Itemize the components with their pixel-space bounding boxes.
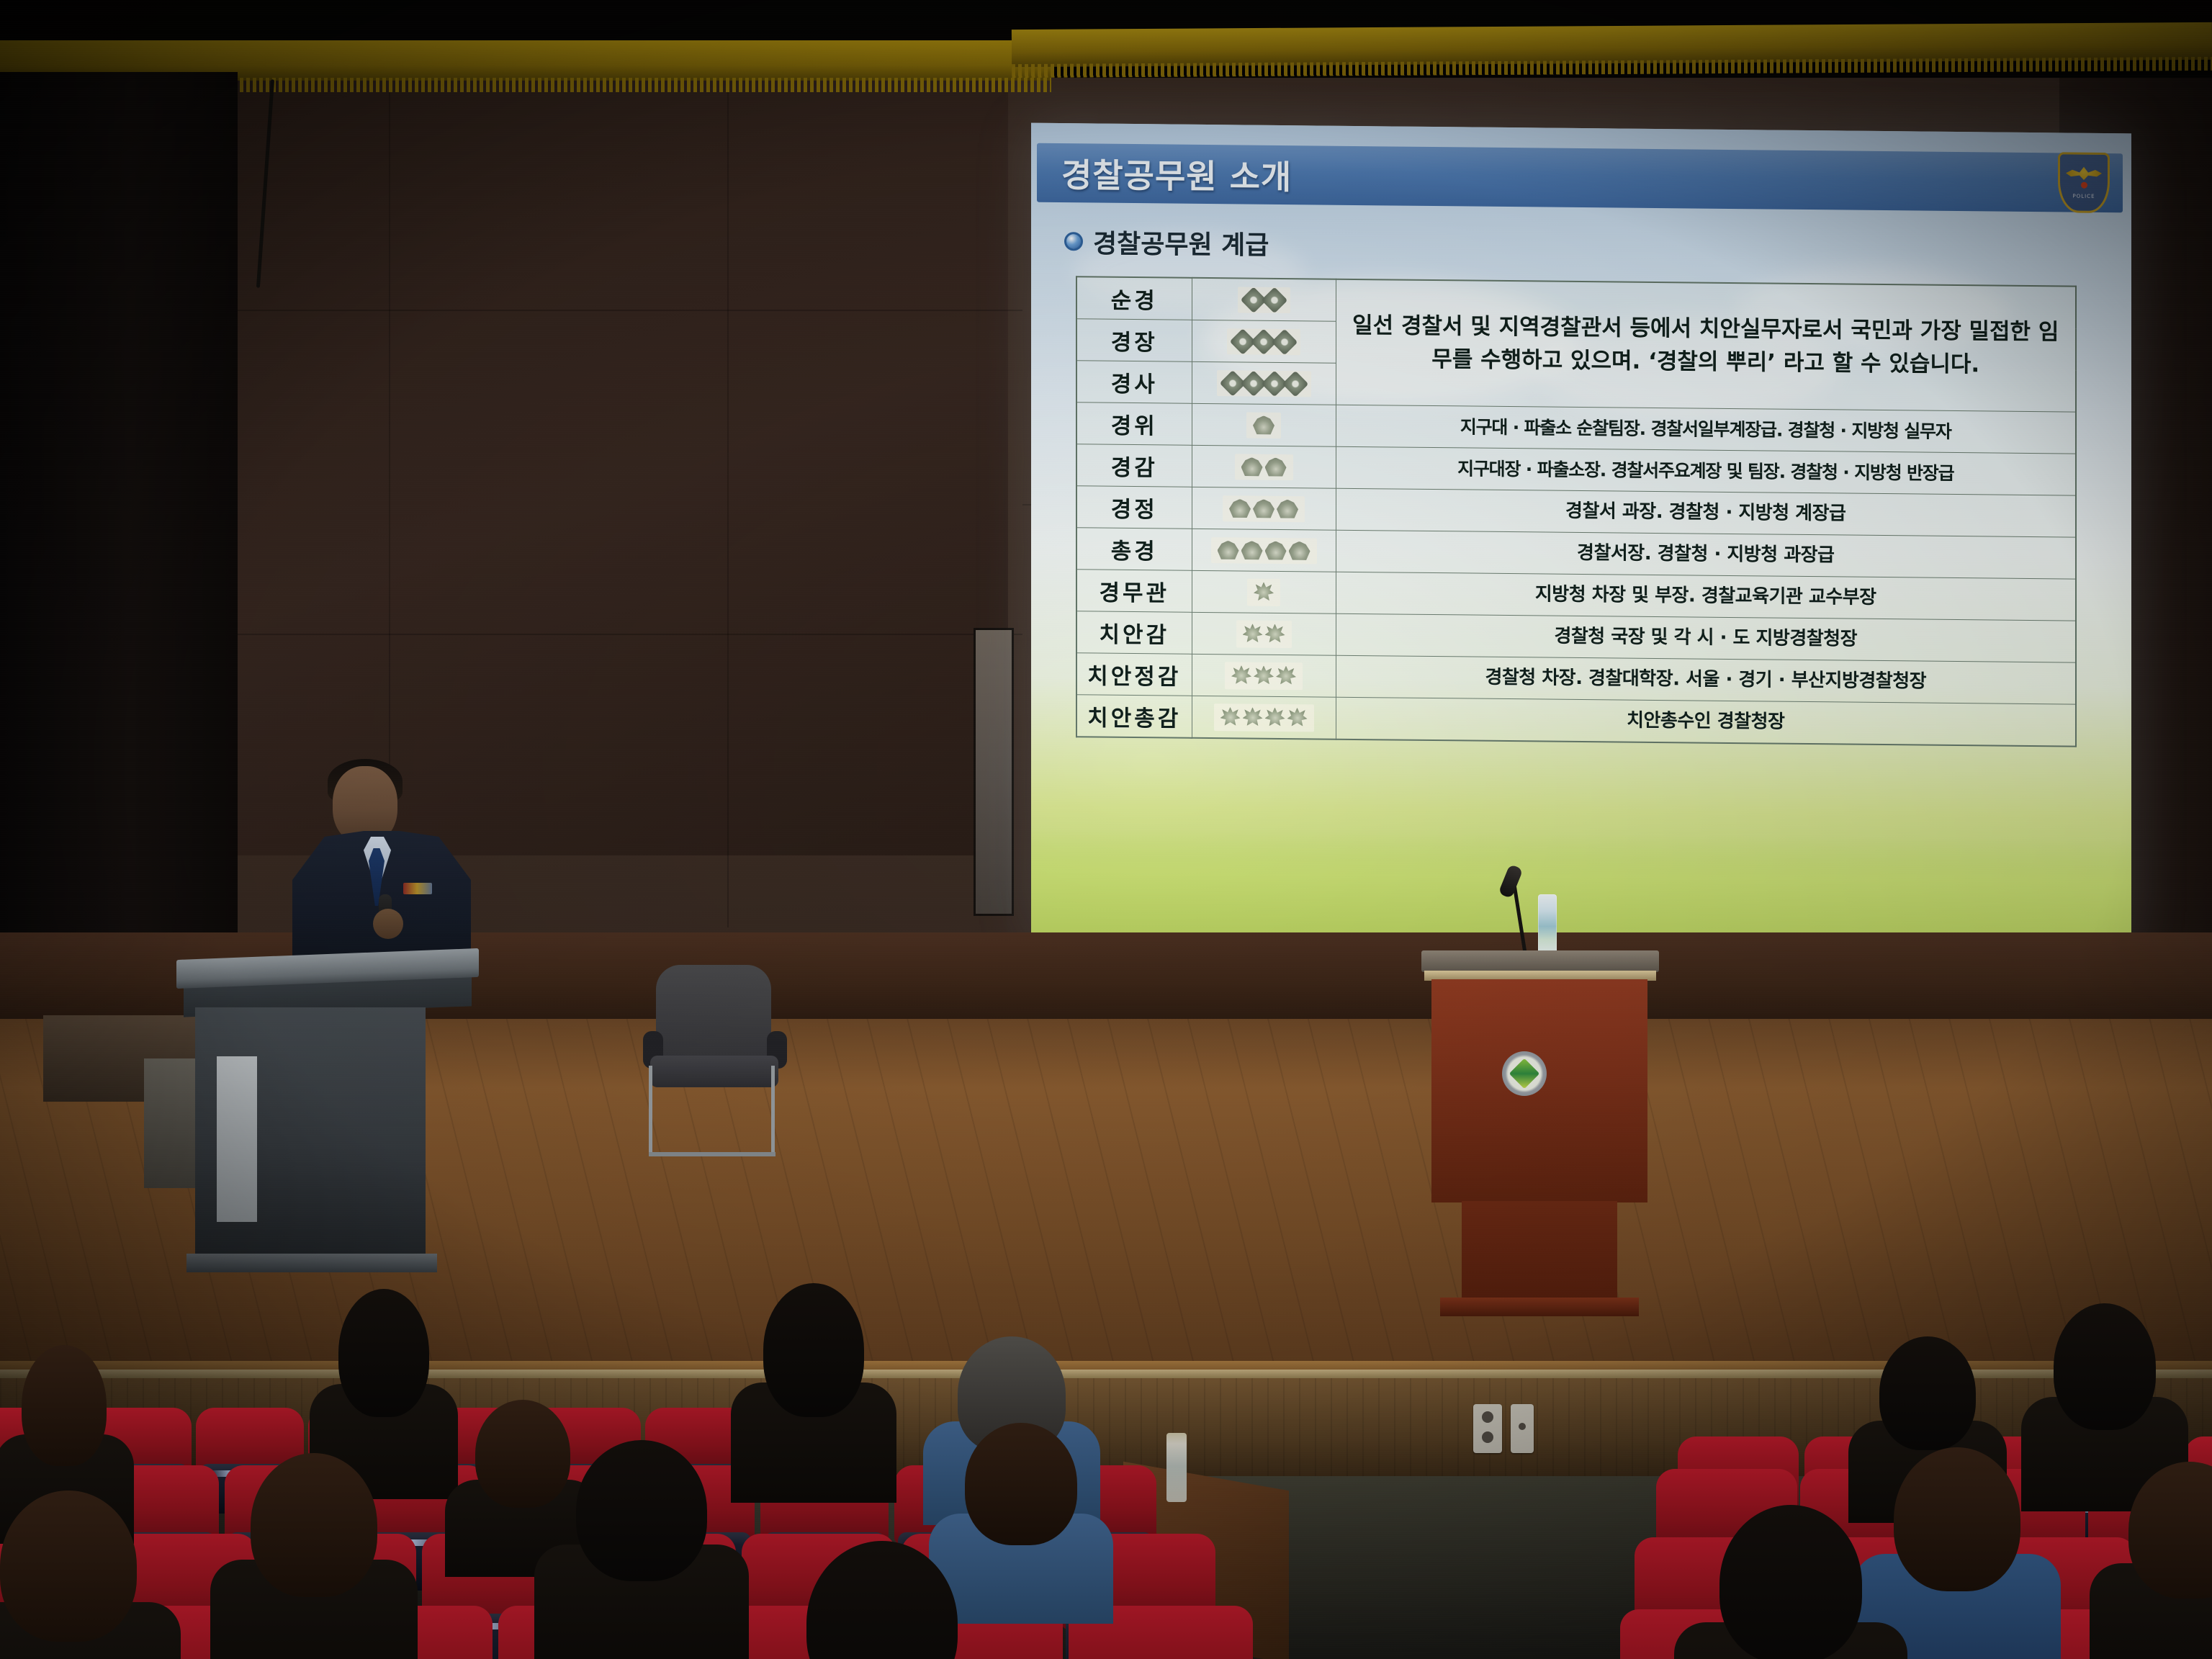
chair-leg-left — [649, 1066, 652, 1156]
audience-member-head — [1894, 1447, 2020, 1591]
insignia-flower-icon — [1225, 662, 1303, 690]
insignia-pip — [1218, 541, 1239, 559]
rank-name-cell: 경감 — [1076, 444, 1192, 487]
rank-description-cell: 경찰청 차장. 경찰대학장. 서울 · 경기 · 부산지방경찰청장 — [1336, 655, 2076, 704]
insignia-pip — [1231, 665, 1251, 685]
insignia-pip — [1282, 370, 1308, 397]
podium-desk-top — [1421, 950, 1659, 972]
curtain-valance-right — [1012, 22, 2212, 67]
rank-insignia-cell — [1192, 612, 1336, 655]
rank-description-cell: 지구대장 · 파출소장. 경찰서주요계장 및 팀장. 경찰청 · 지방청 반장급 — [1336, 446, 2076, 495]
insignia-pip — [1253, 499, 1274, 518]
projection-screen: 경찰공무원 소개 POLICE 경찰공무원 계급 순경일선 경찰서 및 지역경찰… — [1031, 123, 2131, 948]
rank-description-cell: 경찰서장. 경찰청 · 지방청 과장급 — [1336, 530, 2076, 579]
rank-name-cell: 치안총감 — [1076, 695, 1192, 738]
lectern-base — [186, 1254, 437, 1272]
insignia-pip — [1243, 624, 1263, 644]
bullet-label: 경찰공무원 계급 — [1093, 222, 1269, 261]
rank-description-cell: 경찰청 국장 및 각 시 · 도 지방경찰청장 — [1336, 613, 2076, 662]
rank-name-cell: 총경 — [1076, 528, 1192, 571]
lectern-inlay-panel — [217, 1056, 257, 1222]
crest-caption: POLICE — [2072, 194, 2095, 199]
podium-foot — [1440, 1298, 1639, 1316]
rank-name-cell: 경장 — [1076, 319, 1192, 362]
rank-name-cell: 경위 — [1076, 403, 1192, 446]
insignia-pip — [1289, 541, 1310, 560]
audience-member-head — [338, 1289, 429, 1417]
audience-member-head — [475, 1400, 570, 1508]
insignia-rosette-icon — [1223, 495, 1305, 522]
audience-member-head — [251, 1453, 377, 1597]
chair-leg-right — [771, 1066, 775, 1156]
rank-insignia-cell — [1192, 403, 1336, 446]
lectern[interactable] — [176, 954, 479, 1285]
police-rank-table: 순경일선 경찰서 및 지역경찰관서 등에서 치안실무자로서 국민과 가장 밀접한… — [1076, 276, 2077, 747]
stage-side-chair[interactable] — [637, 965, 796, 1181]
grass-decoration — [1031, 829, 2131, 948]
insignia-diamond-icon — [1217, 370, 1311, 397]
insignia-pip — [1243, 707, 1263, 727]
crest-center-dot — [2081, 182, 2087, 189]
insignia-diamond-icon — [1227, 328, 1300, 355]
chair-seat — [650, 1056, 778, 1087]
insignia-flower-icon — [1236, 620, 1292, 648]
insignia-pip — [1261, 287, 1287, 313]
rank-insignia-cell — [1192, 361, 1336, 405]
podium-front-panel — [1431, 979, 1647, 1202]
insignia-rosette-icon — [1246, 412, 1281, 438]
insignia-pip — [1265, 624, 1285, 644]
rank-insignia-cell — [1192, 278, 1336, 321]
presenter-hand — [373, 909, 403, 939]
audience-member-head — [1719, 1505, 1862, 1659]
presenter-name-badge — [403, 883, 432, 894]
insignia-pip — [1277, 499, 1298, 518]
rank-insignia-cell — [1192, 487, 1336, 530]
rank-insignia-cell — [1192, 696, 1336, 739]
rank-name-cell: 순경 — [1076, 276, 1192, 320]
audience-member-head — [0, 1491, 137, 1642]
water-bottle — [1538, 894, 1557, 956]
rank-description-cell: 경찰서 과장. 경찰청 · 지방청 계장급 — [1336, 488, 2076, 537]
rank-name-cell: 경무관 — [1076, 570, 1192, 613]
audience-member-head — [1879, 1336, 1976, 1450]
rank-description-cell: 치안총수인 경찰청장 — [1336, 697, 2076, 746]
insignia-pip — [1253, 415, 1274, 434]
stage-curtain-left — [0, 72, 238, 936]
audience-member-head — [763, 1283, 864, 1417]
slide-bullet: 경찰공무원 계급 — [1064, 222, 1269, 262]
bullet-point-icon — [1064, 232, 1083, 251]
insignia-pip — [1265, 457, 1287, 476]
wall-seam — [727, 78, 729, 927]
chair-back — [656, 965, 771, 1058]
presenter-police-officer — [288, 756, 475, 972]
presentation-slide: 경찰공무원 소개 POLICE 경찰공무원 계급 순경일선 경찰서 및 지역경찰… — [1031, 123, 2131, 948]
wood-podium[interactable] — [1431, 950, 1647, 1325]
rank-name-cell: 경정 — [1076, 486, 1192, 529]
table-row: 치안총감치안총수인 경찰청장 — [1076, 695, 2076, 747]
insignia-pip — [1241, 457, 1263, 476]
rank-insignia-cell — [1192, 654, 1336, 697]
rank-name-cell: 경사 — [1076, 361, 1192, 404]
audience-member-head — [2054, 1303, 2156, 1430]
auditorium-scene: 경찰공무원 소개 POLICE 경찰공무원 계급 순경일선 경찰서 및 지역경찰… — [0, 0, 2212, 1659]
insignia-pip — [1287, 708, 1308, 728]
insignia-pip — [1229, 499, 1251, 518]
wall-speaker-left — [974, 628, 1014, 916]
chair-base-rail — [649, 1152, 775, 1156]
insignia-pip — [1241, 541, 1263, 559]
rank-insignia-cell — [1192, 320, 1336, 363]
rank-insignia-cell — [1192, 570, 1336, 613]
audience-member-head — [22, 1345, 107, 1466]
audience-member-head — [965, 1423, 1077, 1545]
rank-insignia-cell — [1192, 445, 1336, 488]
wall-switch[interactable] — [1511, 1404, 1534, 1453]
institution-emblem-icon — [1502, 1051, 1547, 1096]
insignia-pip — [1220, 707, 1241, 727]
insignia-rosette-icon — [1235, 454, 1293, 480]
insignia-pip — [1265, 541, 1287, 559]
insignia-flower-icon — [1214, 703, 1314, 732]
rank-description-cell: 일선 경찰서 및 지역경찰관서 등에서 치안실무자로서 국민과 가장 밀접한 임… — [1336, 279, 2076, 412]
podium-pedestal — [1462, 1201, 1617, 1302]
wall-power-outlet[interactable] — [1473, 1404, 1502, 1453]
police-crest-icon: POLICE — [2058, 152, 2110, 213]
slide-header: 경찰공무원 소개 POLICE — [1037, 143, 2123, 212]
aisle-water-bottle — [1166, 1433, 1187, 1502]
rank-name-cell: 치안정감 — [1076, 653, 1192, 696]
rank-insignia-cell — [1192, 529, 1336, 572]
audience-member-head — [576, 1440, 707, 1581]
rank-name-cell: 치안감 — [1076, 611, 1192, 655]
insignia-pip — [1265, 707, 1285, 727]
slide-title: 경찰공무원 소개 — [1061, 149, 1292, 199]
insignia-pip — [1272, 328, 1298, 355]
insignia-flower-icon — [1247, 578, 1280, 606]
insignia-pip — [1254, 665, 1274, 685]
insignia-rosette-icon — [1211, 537, 1317, 564]
rank-description-cell: 지방청 차장 및 부장. 경찰교육기관 교수부장 — [1336, 572, 2076, 621]
rank-description-cell: 지구대 · 파출소 순찰팀장. 경찰서일부계장급. 경찰청 · 지방청 실무자 — [1336, 405, 2076, 454]
insignia-pip — [1254, 582, 1274, 602]
insignia-pip — [1276, 665, 1296, 685]
insignia-diamond-icon — [1238, 287, 1290, 313]
